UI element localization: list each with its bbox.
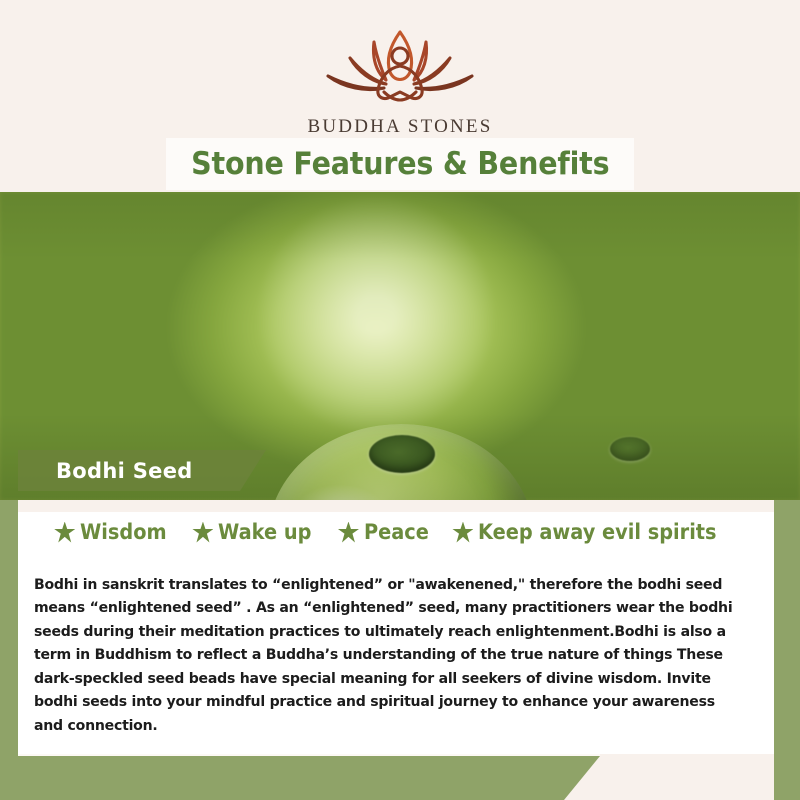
seed-name-label: Bodhi Seed [18, 459, 193, 483]
benefit-label: Wisdom [80, 520, 167, 544]
frame-band-bottom [0, 756, 600, 800]
infographic-page: BUDDHA STONES Stone Features & Benefits … [0, 0, 800, 800]
benefit-label: Keep away evil spirits [478, 520, 717, 544]
seed-name-tag: Bodhi Seed [18, 450, 266, 491]
benefit-label: Wake up [218, 520, 311, 544]
page-title-bar: Stone Features & Benefits [166, 138, 634, 190]
benefit-item-keep-away-evil-spirits: Keep away evil spirits [452, 520, 737, 544]
star-icon [452, 522, 473, 543]
benefit-item-wisdom: Wisdom [54, 520, 174, 544]
benefit-item-wake-up: Wake up [192, 520, 320, 544]
star-icon [54, 522, 75, 543]
page-header: BUDDHA STONES Stone Features & Benefits [0, 0, 800, 192]
benefit-item-peace: Peace [338, 520, 435, 544]
benefit-label: Peace [364, 520, 429, 544]
star-icon [338, 522, 359, 543]
panel-top-tint [18, 500, 774, 512]
page-title: Stone Features & Benefits [191, 146, 609, 182]
content-panel: Wisdom Wake up Peace Keep away evil spir… [18, 500, 774, 754]
benefits-list: Wisdom Wake up Peace Keep away evil spir… [18, 520, 774, 544]
star-icon [192, 522, 213, 543]
lotus-meditation-figure-icon [314, 22, 486, 114]
description-text: Bodhi in sanskrit translates to “enlight… [34, 573, 742, 738]
brand-name: BUDDHA STONES [0, 116, 800, 138]
brand-logo: BUDDHA STONES [0, 22, 800, 138]
